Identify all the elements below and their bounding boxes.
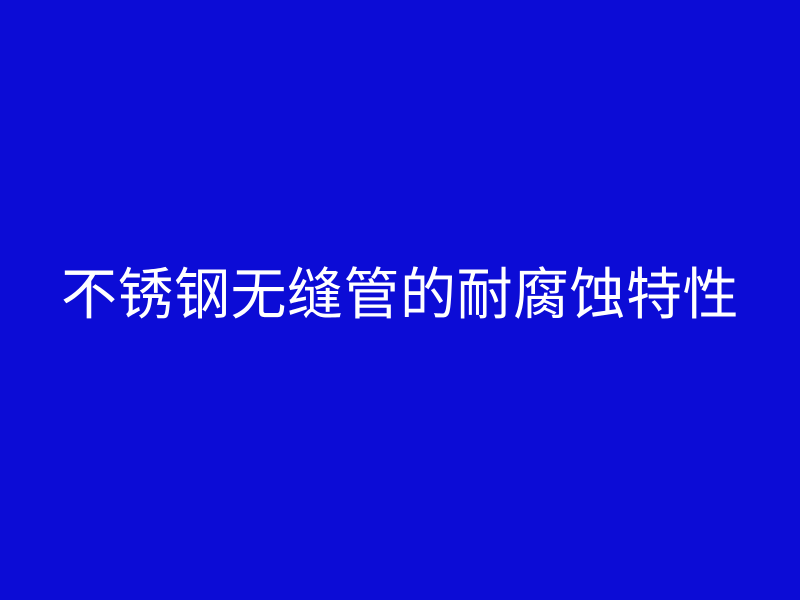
title-block: 不锈钢无缝管的耐腐蚀特性	[0, 0, 800, 600]
page-title: 不锈钢无缝管的耐腐蚀特性	[0, 266, 800, 333]
slide-canvas: 不锈钢无缝管的耐腐蚀特性	[0, 0, 800, 600]
